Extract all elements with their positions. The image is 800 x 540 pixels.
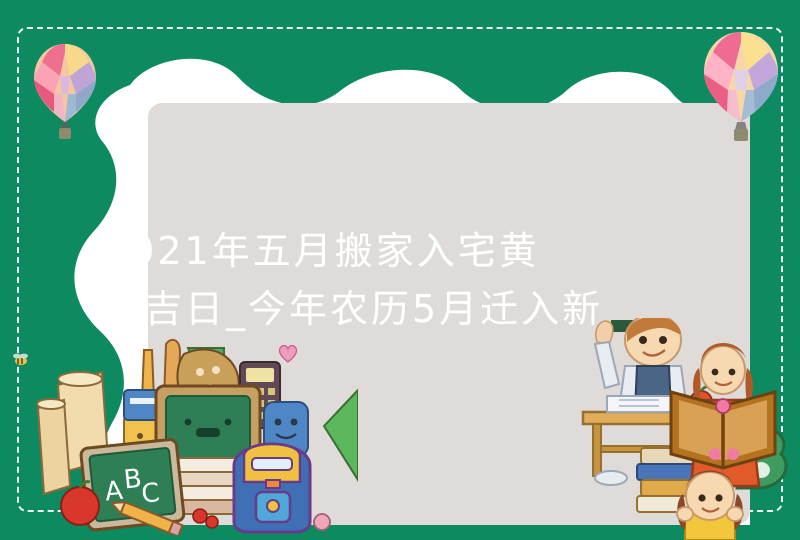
children-reading-illustration [575, 318, 800, 540]
svg-text:C: C [140, 478, 161, 510]
school-supplies-illustration: A B C [28, 330, 358, 535]
page-title-line-1: 2021年五月搬家入宅黄 [103, 222, 703, 280]
poster-canvas: 2021年五月搬家入宅黄 道吉日_今年农历5月迁入新 [0, 0, 800, 540]
hot-air-balloon-icon [702, 30, 780, 142]
hot-air-balloon-icon [32, 42, 98, 140]
